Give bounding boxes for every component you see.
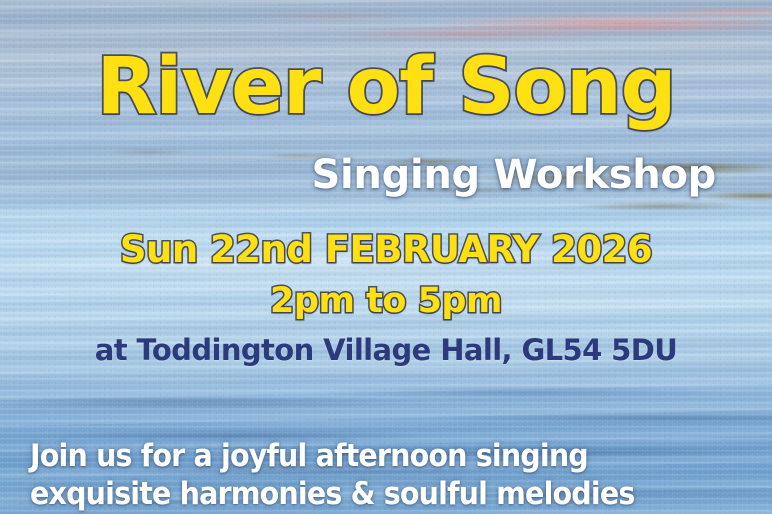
poster-title: River of Song [0, 48, 772, 126]
event-date: Sun 22nd FEBRUARY 2026 [0, 231, 772, 268]
poster-subtitle: Singing Workshop [312, 155, 716, 195]
poster-text-content: River of Song Singing Workshop Sun 22nd … [0, 0, 772, 514]
event-venue: at Toddington Village Hall, GL54 5DU [0, 336, 772, 365]
event-blurb: Join us for a joyful afternoon singing e… [30, 437, 634, 513]
event-time: 2pm to 5pm [0, 284, 772, 319]
event-blurb-line-1: Join us for a joyful afternoon singing [30, 437, 634, 475]
event-poster: River of Song Singing Workshop Sun 22nd … [0, 0, 772, 514]
event-blurb-line-2: exquisite harmonies & soulful melodies [30, 475, 634, 513]
